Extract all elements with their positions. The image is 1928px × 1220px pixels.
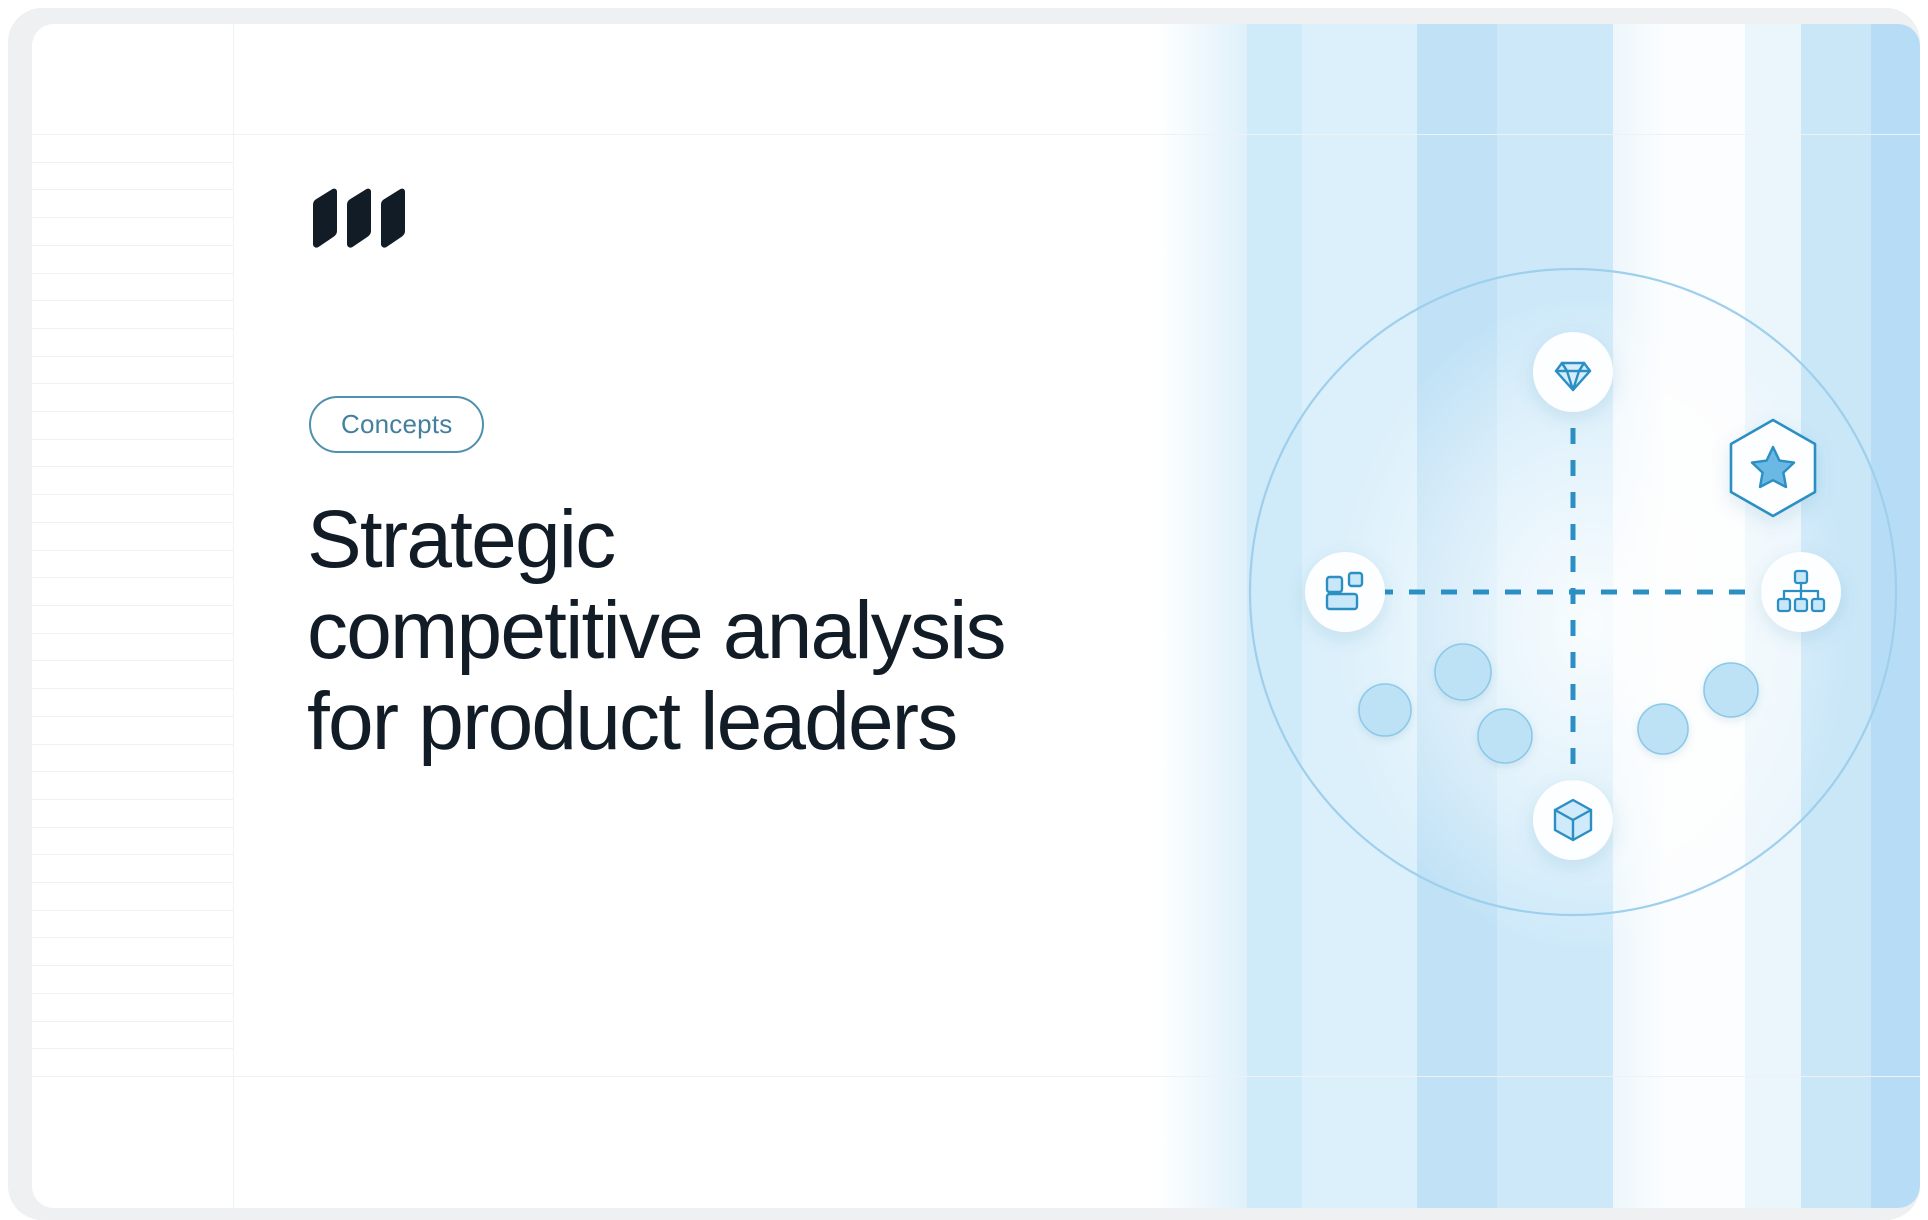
- node-blocks: [1305, 552, 1385, 632]
- sidebar-rule-line: [32, 1048, 233, 1049]
- page-title: Strategic competitive analysis for produ…: [307, 494, 1237, 767]
- concepts-badge[interactable]: Concepts: [309, 396, 484, 453]
- scatter-dot: [1704, 663, 1758, 717]
- sidebar-rule-line: [32, 328, 233, 329]
- content-column: Concepts Strategic competitive analysis …: [233, 134, 1920, 1076]
- sidebar-rule-line: [32, 522, 233, 523]
- sidebar-rule-line: [32, 688, 233, 689]
- page-title-line-2: competitive analysis: [307, 585, 1005, 676]
- sidebar-rule-line: [32, 716, 233, 717]
- three-slab-logo: [310, 187, 408, 249]
- cube-icon: [1555, 800, 1591, 840]
- sidebar-rule-line: [32, 993, 233, 994]
- scatter-dot: [1478, 709, 1532, 763]
- sidebar-rule-line: [32, 217, 233, 218]
- sidebar-rule-line: [32, 854, 233, 855]
- bottom-divider: [32, 1076, 1920, 1077]
- sidebar-rule-line: [32, 605, 233, 606]
- scatter-dot: [1435, 644, 1491, 700]
- scatter-dot-group: [1359, 644, 1758, 763]
- sidebar-rule-line: [32, 494, 233, 495]
- sidebar-rule-line: [32, 937, 233, 938]
- app-card-frame: Concepts Strategic competitive analysis …: [8, 8, 1920, 1220]
- sidebar-rule-line: [32, 245, 233, 246]
- scatter-dot: [1359, 684, 1411, 736]
- sidebar-rule-line: [32, 466, 233, 467]
- sidebar-rule-line: [32, 660, 233, 661]
- sidebar-rule-line: [32, 411, 233, 412]
- sidebar-rule-line: [32, 1021, 233, 1022]
- sidebar-rule-line: [32, 771, 233, 772]
- sidebar-rule-line: [32, 189, 233, 190]
- sidebar-rule-line: [32, 439, 233, 440]
- screenshot-root: Concepts Strategic competitive analysis …: [0, 0, 1928, 1220]
- sidebar-rule-line: [32, 827, 233, 828]
- hero-illustration: [1223, 242, 1920, 942]
- sidebar-rule-line: [32, 965, 233, 966]
- sidebar-rule-line: [32, 550, 233, 551]
- ruled-sidebar: [32, 24, 233, 1208]
- page-title-line-3: for product leaders: [307, 676, 957, 767]
- app-card-surface: Concepts Strategic competitive analysis …: [32, 24, 1920, 1208]
- sidebar-rule-line: [32, 799, 233, 800]
- sidebar-rule-line: [32, 910, 233, 911]
- scatter-dot: [1638, 704, 1688, 754]
- sidebar-rule-line: [32, 577, 233, 578]
- sidebar-rule-line: [32, 882, 233, 883]
- sidebar-rule-line: [32, 744, 233, 745]
- sidebar-rule-line: [32, 273, 233, 274]
- sidebar-rule-line: [32, 162, 233, 163]
- concepts-badge-label: Concepts: [341, 409, 452, 440]
- sidebar-rule-line: [32, 356, 233, 357]
- sidebar-rule-line: [32, 633, 233, 634]
- sidebar-rule-line: [32, 300, 233, 301]
- sidebar-rule-line: [32, 383, 233, 384]
- page-title-line-1: Strategic: [307, 494, 614, 585]
